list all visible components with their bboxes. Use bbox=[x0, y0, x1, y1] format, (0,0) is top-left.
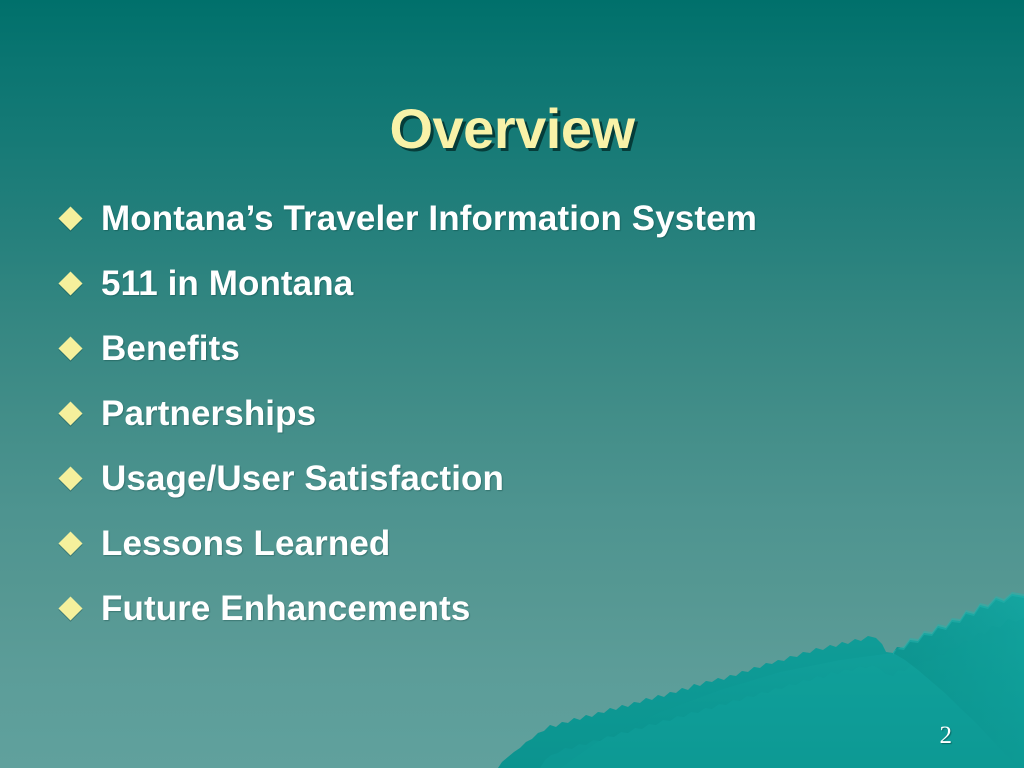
list-item-label: Partnerships bbox=[101, 394, 316, 434]
list-item-label: Lessons Learned bbox=[101, 524, 390, 564]
list-item: Usage/User Satisfaction bbox=[62, 446, 992, 511]
presentation-slide: Overview Montana’s Traveler Information … bbox=[0, 0, 1024, 768]
diamond-bullet-icon bbox=[58, 336, 82, 360]
page-title: Overview bbox=[0, 96, 1024, 161]
list-item-label: Future Enhancements bbox=[101, 589, 470, 629]
list-item-label: 511 in Montana bbox=[101, 264, 353, 304]
list-item: Benefits bbox=[62, 316, 992, 381]
diamond-bullet-icon bbox=[58, 596, 82, 620]
diamond-bullet-icon bbox=[58, 531, 82, 555]
diamond-bullet-icon bbox=[58, 466, 82, 490]
diamond-bullet-icon bbox=[58, 206, 82, 230]
list-item: Montana’s Traveler Information System bbox=[62, 186, 992, 251]
list-item: Lessons Learned bbox=[62, 511, 992, 576]
list-item: Future Enhancements bbox=[62, 576, 992, 641]
bullet-list: Montana’s Traveler Information System 51… bbox=[62, 186, 992, 641]
list-item-label: Usage/User Satisfaction bbox=[101, 459, 504, 499]
list-item: Partnerships bbox=[62, 381, 992, 446]
list-item-label: Benefits bbox=[101, 329, 240, 369]
page-number: 2 bbox=[940, 722, 953, 750]
diamond-bullet-icon bbox=[58, 401, 82, 425]
list-item: 511 in Montana bbox=[62, 251, 992, 316]
diamond-bullet-icon bbox=[58, 271, 82, 295]
list-item-label: Montana’s Traveler Information System bbox=[101, 199, 757, 239]
